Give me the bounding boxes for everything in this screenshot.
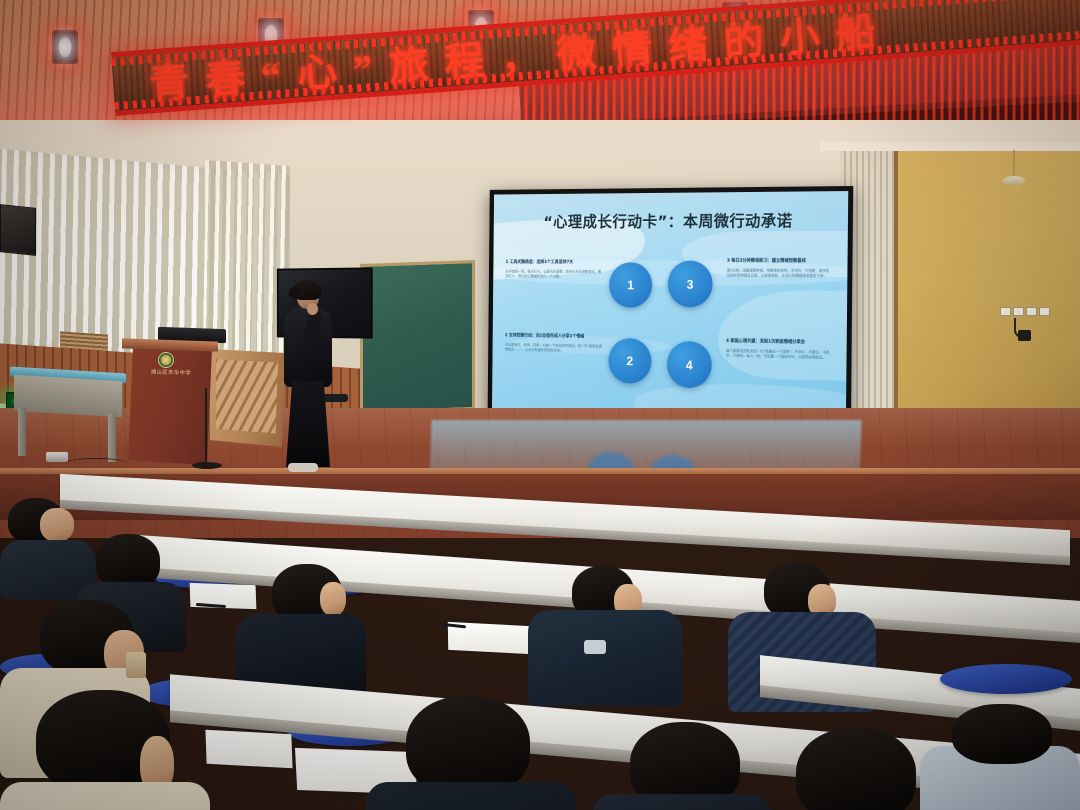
audience-seating xyxy=(0,496,1080,810)
slide-item-body: 用2分钟，闭眼感受呼吸，觉察身体信号；不评判，只觉察，用手机记时并坚持每日记录，… xyxy=(727,268,833,279)
jacket-logo xyxy=(584,640,606,654)
slide-item-body: 每个家庭成员轮流说一句"我最近一个感受"；不评价、不建议、不批评，只倾听；每人一… xyxy=(726,348,832,361)
slide-item-heading: 2 支持性微行动：向1位信任成人分享1个情绪 xyxy=(505,333,603,341)
slide-item-4: 4 家庭心理共建：发起1次家庭情绪分享会 每个家庭成员轮流说一句"我最近一个感受… xyxy=(726,339,832,361)
student-torso xyxy=(592,794,772,810)
student-face xyxy=(40,508,74,542)
power-plug xyxy=(1018,330,1031,341)
slide-item-heading: 4 家庭心理共建：发起1次家庭情绪分享会 xyxy=(726,339,832,347)
chair-seat[interactable] xyxy=(940,664,1072,694)
pendant-lamp xyxy=(1003,176,1025,185)
slide-item-body: 可以是家长、老师、同学，约定一个安全的时间点；说一句"我现在感觉有点……"，让对… xyxy=(505,342,603,354)
presenter-hand xyxy=(307,303,318,315)
right-wall xyxy=(898,145,1080,445)
slide-number-badge-1: 1 xyxy=(609,262,652,307)
slide-item-heading: 3 每日2分钟静观练习：建立情绪觉察基线 xyxy=(727,259,833,266)
slide-item-heading: 1 工具式微践选：选择1个工具坚持7天 xyxy=(506,260,604,267)
cup[interactable] xyxy=(126,652,146,678)
worksheet-paper[interactable] xyxy=(205,730,292,769)
slide-item-3: 3 每日2分钟静观练习：建立情绪觉察基线 用2分钟，闭眼感受呼吸，觉察身体信号；… xyxy=(727,259,833,280)
student-torso xyxy=(528,610,682,706)
student-head xyxy=(796,728,916,810)
presenter xyxy=(278,283,340,475)
slide-title: “心理成长行动卡”：本周微行动承诺 xyxy=(494,207,848,232)
auditorium-photo: EXIT 青春“心”旅程，微情绪的小船 “心理成长行动卡”：本周微行动承诺 1 … xyxy=(0,0,1080,810)
ceiling-spotlight xyxy=(52,30,78,64)
slide-wave-shape xyxy=(718,290,848,382)
microphone-stand xyxy=(205,388,207,466)
slide-item-1: 1 工具式微践选：选择1个工具坚持7天 从中选择一项，每天打卡，记录当天感受，坚… xyxy=(505,260,603,280)
chalkboard xyxy=(360,260,475,414)
pendant-wire xyxy=(1013,150,1015,178)
stage-desk-leg xyxy=(18,408,26,456)
stage-desk-leg xyxy=(108,414,116,462)
slide-number-badge-4: 4 xyxy=(667,341,712,389)
student-torso xyxy=(0,782,210,810)
student-head xyxy=(406,696,530,796)
presenter-shoes xyxy=(288,463,318,472)
slide-item-body: 从中选择一项，每天打卡，记录当天感受，坚持七天后回顾变化；做到打卡，再为自己情绪… xyxy=(505,269,603,280)
wall-outlet[interactable] xyxy=(1013,307,1024,316)
wall-outlet[interactable] xyxy=(1039,307,1050,316)
microphone-stand-base xyxy=(192,462,222,469)
student-torso xyxy=(366,782,576,810)
wall-outlet[interactable] xyxy=(1026,307,1037,316)
floor-cable xyxy=(66,458,126,468)
stage-desk-body xyxy=(14,375,122,418)
presenter-skirt xyxy=(286,381,330,467)
slide-item-2: 2 支持性微行动：向1位信任成人分享1个情绪 可以是家长、老师、同学，约定一个安… xyxy=(505,333,603,354)
wall-ceiling-trim xyxy=(820,142,1080,151)
projection-screen: “心理成长行动卡”：本周微行动承诺 1 3 2 4 1 工具式微践选：选择1个工… xyxy=(488,186,854,429)
wall-outlet[interactable] xyxy=(1000,307,1011,316)
podium-lattice-panel xyxy=(216,357,278,435)
school-emblem-icon xyxy=(158,352,174,368)
slide: “心理成长行动卡”：本周微行动承诺 1 3 2 4 1 工具式微践选：选择1个工… xyxy=(492,191,848,424)
presenter-hair-bun xyxy=(289,287,300,299)
projector-device xyxy=(46,452,68,462)
student-head xyxy=(952,704,1052,764)
student-face xyxy=(320,582,346,616)
slide-number-badge-2: 2 xyxy=(608,338,651,384)
wall-speaker xyxy=(0,204,36,256)
slide-number-badge-3: 3 xyxy=(668,261,713,308)
